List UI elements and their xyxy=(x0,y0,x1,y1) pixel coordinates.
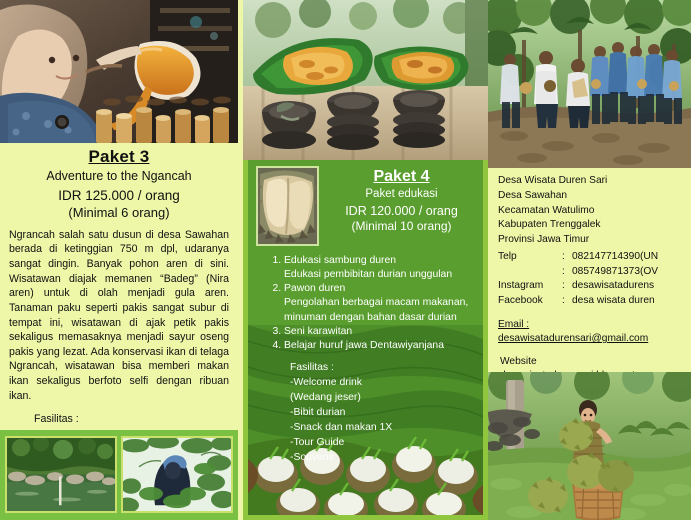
panel-paket-3: Paket 3 Adventure to the Ngancah IDR 125… xyxy=(0,0,238,520)
contact-label: Instagram xyxy=(498,279,562,294)
paket-3-description: Ngrancah salah satu dusun di desa Sawaha… xyxy=(6,228,232,403)
brochure-page: Paket 3 Adventure to the Ngancah IDR 125… xyxy=(0,0,691,520)
activity-sub: Edukasi pembibitan durian unggulan xyxy=(284,268,475,282)
paket-3-bottom-photo-row xyxy=(0,430,238,520)
woman-picking-ferns-photo xyxy=(121,436,233,513)
address-line: Kecamatan Watulimo xyxy=(498,204,683,219)
contact-row-facebook: Facebook : desa wisata duren xyxy=(498,294,683,309)
contact-row-instagram: Instagram : desawisatadurens xyxy=(498,279,683,294)
list-item: Seni karawitan xyxy=(284,325,475,339)
facility-item: -Snack dan makan 1X xyxy=(290,420,475,435)
food-on-banana-leaves-with-clay-bowls-photo xyxy=(243,0,488,160)
address-line: Provinsi Jawa Timur xyxy=(498,233,683,248)
woman-pouring-palm-sugar-photo xyxy=(0,0,238,143)
contact-separator: : xyxy=(562,250,572,265)
contact-value[interactable]: 082147714390(UN xyxy=(572,250,683,265)
contact-separator: : xyxy=(562,294,572,309)
paket-4-minimum: (Minimal 10 orang) xyxy=(328,219,475,233)
paket-3-title: Paket 3 xyxy=(6,147,232,167)
email-heading: Email : xyxy=(498,318,683,332)
facility-item: -Bibit durian xyxy=(290,405,475,420)
paket-4-content: Paket 4 Paket edukasi IDR 120.000 / oran… xyxy=(248,160,483,466)
contact-value[interactable]: desawisatadurens xyxy=(572,279,683,294)
contact-rows: Telp : 082147714390(UN : 085749871373(OV… xyxy=(498,250,683,309)
contact-row-telp: Telp : 082147714390(UN xyxy=(498,250,683,265)
website-heading: Website xyxy=(500,355,683,370)
paket-3-price: IDR 125.000 / orang xyxy=(6,188,232,205)
contact-value[interactable]: desa wisata duren xyxy=(572,294,683,309)
email-block: Email : desawisatadurensari@gmail.com xyxy=(498,318,683,347)
activity-sub: Pengolahan berbagai macam makanan, minum… xyxy=(284,296,475,324)
paket-4-facilities: Fasilitas : -Welcome drink (Wedang jeser… xyxy=(256,360,475,466)
contact-separator: : xyxy=(562,265,572,280)
contact-label: Facebook xyxy=(498,294,562,309)
facility-item: -Souvenir xyxy=(290,450,475,465)
paket-4-title: Paket 4 xyxy=(328,168,475,186)
address-line: Kabupaten Trenggalek xyxy=(498,218,683,233)
paket-4-subtitle: Paket edukasi xyxy=(328,188,475,200)
facility-item: -Welcome drink xyxy=(290,375,475,390)
paket-3-minimum: (Minimal 6 orang) xyxy=(6,205,232,220)
opened-durian-fruit-photo xyxy=(256,166,319,246)
list-item: Pawon duren Pengolahan berbagai macam ma… xyxy=(284,282,475,324)
contact-label: Telp xyxy=(498,250,562,265)
contact-info-block: Desa Wisata Duren Sari Desa Sawahan Keca… xyxy=(488,168,691,384)
paket-4-green-block: Paket 4 Paket edukasi IDR 120.000 / oran… xyxy=(243,160,488,520)
contact-value[interactable]: 085749871373(OV xyxy=(572,265,683,280)
paket-4-price: IDR 120.000 / orang xyxy=(328,203,475,219)
panel-paket-4: Paket 4 Paket edukasi IDR 120.000 / oran… xyxy=(243,0,488,520)
facilities-heading: Fasilitas : xyxy=(34,412,232,427)
panel-contact: Desa Wisata Duren Sari Desa Sawahan Keca… xyxy=(488,0,691,520)
facilities-heading: Fasilitas : xyxy=(290,360,475,375)
tourist-group-in-forest-photo xyxy=(488,0,691,168)
address-line: Desa Sawahan xyxy=(498,189,683,204)
list-item: Edukasi sambung duren Edukasi pembibitan… xyxy=(284,254,475,282)
contact-separator: : xyxy=(562,279,572,294)
woman-with-durian-basket-photo xyxy=(488,372,691,520)
email-address[interactable]: desawisatadurensari@gmail.com xyxy=(498,332,683,346)
paket-3-subtitle: Adventure to the Ngancah xyxy=(6,169,232,183)
contact-label xyxy=(498,265,562,280)
activity-main: Seni karawitan xyxy=(284,326,352,337)
list-item: Belajar huruf jawa Dentawiyanjana xyxy=(284,339,475,353)
address-line: Desa Wisata Duren Sari xyxy=(498,174,683,189)
facility-item: -Tour Guide xyxy=(290,435,475,450)
activity-main: Pawon duren xyxy=(284,283,345,294)
activity-main: Belajar huruf jawa Dentawiyanjana xyxy=(284,340,444,351)
paket-4-activity-list: Edukasi sambung duren Edukasi pembibitan… xyxy=(256,254,475,353)
activity-main: Edukasi sambung duren xyxy=(284,255,396,266)
facility-item: (Wedang jeser) xyxy=(290,390,475,405)
telaga-pond-with-rocks-photo xyxy=(5,436,117,513)
contact-row-telp-secondary: : 085749871373(OV xyxy=(498,265,683,280)
